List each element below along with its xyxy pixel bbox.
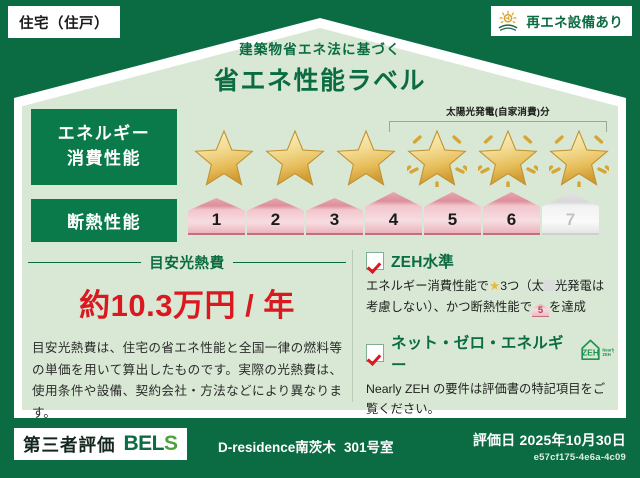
star-5 [474, 126, 542, 188]
utility-cost-heading: 目安光熱費 [28, 252, 346, 273]
energy-label-line1: エネルギー [58, 122, 151, 147]
solar-sparkle-icon [407, 129, 467, 187]
inline-star-icon: ★ [489, 279, 500, 293]
column-divider [352, 250, 353, 402]
grade-value: 5 [448, 210, 457, 230]
housing-type-badge: 住宅（住戸） [8, 6, 120, 38]
bels-wordmark-light: S [164, 432, 178, 455]
checkmark-icon [366, 344, 384, 362]
zeh-body-part-b: 3つ（太 [500, 279, 544, 293]
grade-value: 2 [271, 210, 280, 230]
title-mainline: 省エネ性能ラベル [0, 61, 640, 97]
utility-cost-block: 目安光熱費 約10.3万円 / 年 目安光熱費は、住宅の省エネ性能と全国一律の燃… [28, 252, 346, 425]
energy-performance-label: 住宅（住戸） 再エネ設備あり 建築 [0, 0, 640, 478]
star-3 [332, 126, 400, 188]
star-1 [190, 126, 258, 188]
energy-star-rating: 太陽光発電(自家消費)分 [182, 104, 614, 190]
solar-sparkle-icon [478, 129, 538, 187]
star-2 [261, 126, 329, 188]
room-number: 301号室 [344, 436, 394, 456]
star-icon [194, 129, 254, 187]
energy-performance-row-label: エネルギー 消費性能 [31, 109, 177, 185]
grade-value: 7 [566, 210, 575, 230]
bels-wordmark-dark: BEL [124, 432, 165, 455]
page-title: 建築物省エネ法に基づく 省エネ性能ラベル [0, 38, 640, 97]
grade-value: 3 [330, 210, 339, 230]
svg-text:ZEH: ZEH [602, 352, 610, 357]
solar-sparkle-icon [549, 129, 609, 187]
claim-net-zero-energy: ネット・ゼロ・エネルギー ZEH Nearly ZEH Nearly ZEH の… [366, 331, 614, 420]
star-6 [545, 126, 613, 188]
label-content: エネルギー 消費性能 太陽光発電(自家消費)分 断熱性能 1234567 目安光… [22, 100, 618, 410]
building-name: D-residence南茨木 [218, 436, 336, 456]
insulation-grade-7: 7 [542, 192, 599, 235]
solar-portion-caption: 太陽光発電(自家消費)分 [389, 104, 607, 118]
star-icon [336, 129, 396, 187]
star-4 [403, 126, 471, 188]
svg-text:ZEH: ZEH [582, 348, 599, 358]
insulation-grade-4: 4 [365, 192, 422, 235]
sun-icon [497, 10, 521, 32]
evaluation-date: 評価日 2025年10月30日 [473, 430, 626, 450]
third-party-eval-label: 第三者評価 [23, 432, 116, 457]
certification-claims: ZEH水準 エネルギー消費性能で★3つ（太光発電は考慮しない）、かつ断熱性能で5… [366, 250, 614, 433]
grade-value: 4 [389, 210, 398, 230]
insulation-grade-3: 3 [306, 198, 363, 235]
insulation-grade-5: 5 [424, 192, 481, 235]
inline-grade-badge: 5 [532, 304, 549, 317]
evaluation-info: 評価日 2025年10月30日 e57cf175-4e6a-4c09 [473, 430, 626, 463]
insulation-grade-2: 2 [247, 198, 304, 235]
utility-cost-heading-text: 目安光熱費 [149, 252, 225, 273]
redacted-character [544, 280, 555, 291]
claim-net-zero-energy-title: ネット・ゼロ・エネルギー [391, 331, 571, 375]
claim-net-zero-energy-body: Nearly ZEH の要件は評価書の特記項目をご覧ください。 [366, 379, 614, 420]
insulation-grade-6: 6 [483, 192, 540, 235]
title-subline: 建築物省エネ法に基づく [0, 38, 640, 58]
evaluation-id: e57cf175-4e6a-4c09 [473, 452, 626, 463]
claim-zeh-standard: ZEH水準 エネルギー消費性能で★3つ（太光発電は考慮しない）、かつ断熱性能で5… [366, 250, 614, 318]
rule-right [233, 262, 346, 264]
housing-type-label: 住宅（住戸） [19, 12, 109, 33]
zeh-body-part-d: を達成 [549, 300, 586, 314]
renewable-equipment-badge: 再エネ設備あり [491, 6, 632, 36]
insulation-label-text: 断熱性能 [67, 208, 141, 233]
zeh-house-icon: ZEH Nearly ZEH [578, 338, 614, 367]
insulation-grade-1: 1 [188, 198, 245, 235]
utility-cost-value: 約10.3万円 / 年 [28, 280, 346, 325]
claim-zeh-standard-title: ZEH水準 [391, 250, 454, 272]
star-row [190, 126, 613, 188]
zeh-body-part-a: エネルギー消費性能で [366, 279, 489, 293]
grade-value: 6 [507, 210, 516, 230]
label-footer: 第三者評価 BELS D-residence南茨木 301号室 評価日 2025… [0, 420, 640, 478]
claim-zeh-standard-body: エネルギー消費性能で★3つ（太光発電は考慮しない）、かつ断熱性能で5を達成 [366, 276, 614, 318]
renewable-equipment-label: 再エネ設備あり [526, 11, 623, 31]
claim-zeh-standard-head: ZEH水準 [366, 250, 614, 272]
utility-cost-note: 目安光熱費は、住宅の省エネ性能と全国一律の燃料等の単価を用いて算出したものです。… [28, 338, 346, 425]
claim-net-zero-energy-head: ネット・ゼロ・エネルギー ZEH Nearly ZEH [366, 331, 614, 375]
bels-wordmark: BELS [124, 432, 178, 456]
checkmark-icon [366, 252, 384, 270]
insulation-performance-row-label: 断熱性能 [31, 199, 177, 242]
insulation-grade-row: 1234567 [188, 192, 599, 235]
grade-value: 1 [212, 210, 221, 230]
star-icon [265, 129, 325, 187]
inline-grade-value: 5 [538, 305, 543, 316]
energy-label-line2: 消費性能 [67, 147, 141, 172]
rule-left [28, 262, 141, 264]
bels-badge: 第三者評価 BELS [14, 428, 187, 460]
